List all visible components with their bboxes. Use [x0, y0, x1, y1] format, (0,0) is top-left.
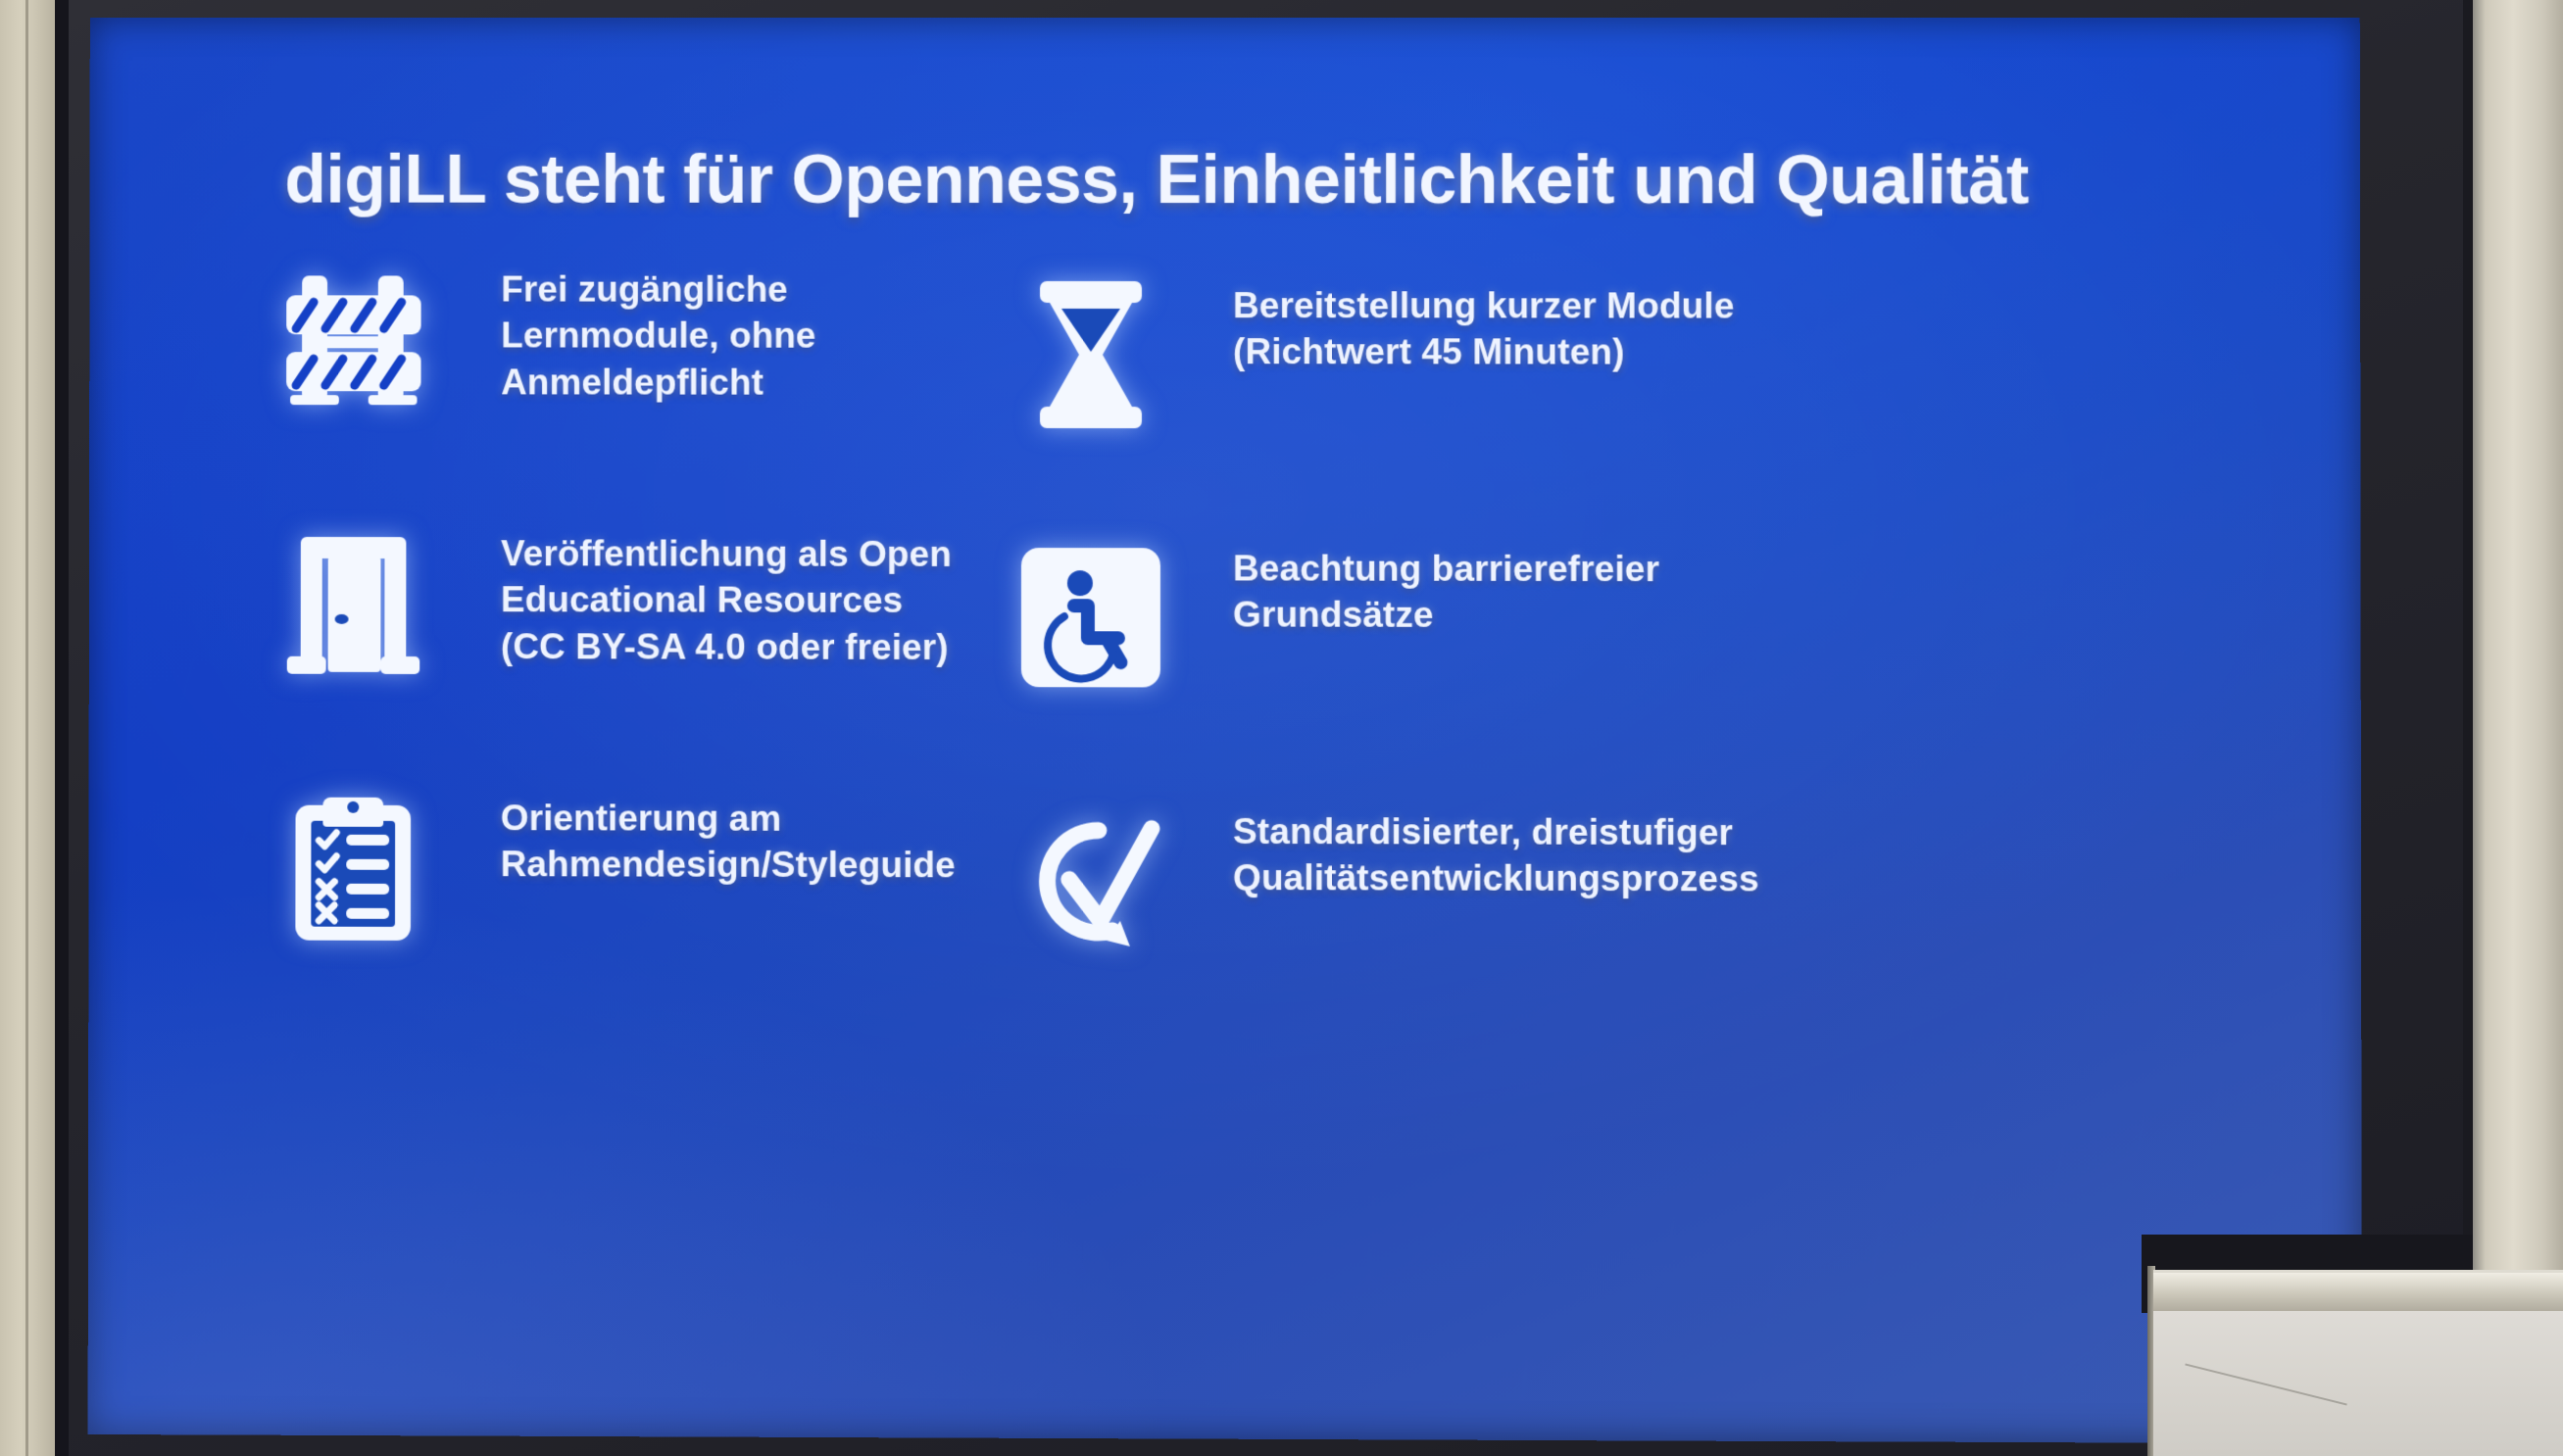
flipchart-board [2142, 1260, 2563, 1456]
feature-text-line: Grundsätze [1233, 592, 1659, 639]
slide-title: digiLL steht für Openness, Einheitlichke… [284, 143, 2245, 217]
circular-arrow-check-icon [1008, 801, 1174, 959]
feature-text-line: Bereitstellung kurzer Module [1233, 282, 1735, 329]
feature-grid: Frei zugängliche Lernmodule, ohne Anmeld… [236, 260, 2268, 1068]
feature-text-line: Qualitätsentwicklungsprozess [1233, 854, 1759, 902]
flipchart-rail [2153, 1270, 2563, 1316]
feature-column-left: Frei zugängliche Lernmodule, ohne Anmeld… [236, 260, 863, 1064]
flipchart-paper [2153, 1311, 2563, 1456]
hourglass-icon [1008, 276, 1174, 433]
flipchart-paper-crease [2185, 1363, 2346, 1405]
feature-item-text: Veröffentlichung als Open Educational Re… [501, 524, 952, 670]
feature-text-line: Beachtung barrierefreier [1233, 545, 1659, 592]
feature-text-line: Standardisierter, dreistufiger [1233, 808, 1759, 856]
road-barrier-icon [271, 260, 436, 416]
wheelchair-accessibility-icon [1008, 539, 1174, 696]
clipboard-checklist-icon [270, 789, 436, 946]
feature-text-line: Rahmendesign/Styleguide [501, 842, 956, 890]
presentation-slide: digiLL steht für Openness, Einheitlichke… [88, 18, 2362, 1443]
feature-text-line: Orientierung am [501, 795, 956, 842]
feature-text-line: Anmeldepflicht [501, 359, 815, 406]
feature-item-text: Standardisierter, dreistufiger Qualitäts… [1233, 802, 1759, 902]
feature-item-text: Orientierung am Rahmendesign/Styleguide [501, 789, 956, 889]
feature-item-frei-zugaengliche: Frei zugängliche Lernmodule, ohne Anmeld… [271, 260, 863, 424]
feature-item-veroeffentlichung-oer: Veröffentlichung als Open Educational Re… [271, 524, 863, 690]
feature-text-line: Veröffentlichung als Open [501, 530, 952, 577]
feature-text-line: Educational Resources [501, 577, 952, 624]
wall-left [0, 0, 55, 1456]
feature-item-text: Beachtung barrierefreier Grundsätze [1233, 539, 1659, 639]
feature-item-kurze-module: Bereitstellung kurzer Module (Richtwert … [1008, 276, 2268, 443]
feature-item-barrierefreiheit: Beachtung barrierefreier Grundsätze [1008, 539, 2268, 706]
feature-column-right: Bereitstellung kurzer Module (Richtwert … [970, 261, 2269, 1069]
wall-right [2473, 0, 2563, 1456]
feature-item-text: Frei zugängliche Lernmodule, ohne Anmeld… [501, 261, 815, 406]
open-door-icon [271, 524, 436, 681]
feature-item-qualitaetsprozess: Standardisierter, dreistufiger Qualitäts… [1008, 801, 2269, 970]
feature-text-line: Lernmodule, ohne [501, 313, 815, 360]
bezel-gap-left [55, 0, 69, 1456]
photographed-room-scene: digiLL steht für Openness, Einheitlichke… [0, 0, 2563, 1456]
feature-text-line: Frei zugängliche [501, 267, 815, 314]
feature-item-text: Bereitstellung kurzer Module (Richtwert … [1233, 276, 1735, 375]
feature-text-line: (CC BY-SA 4.0 oder freier) [501, 623, 952, 670]
feature-item-rahmendesign: Orientierung am Rahmendesign/Styleguide [270, 789, 863, 955]
feature-text-line: (Richtwert 45 Minuten) [1233, 328, 1735, 375]
